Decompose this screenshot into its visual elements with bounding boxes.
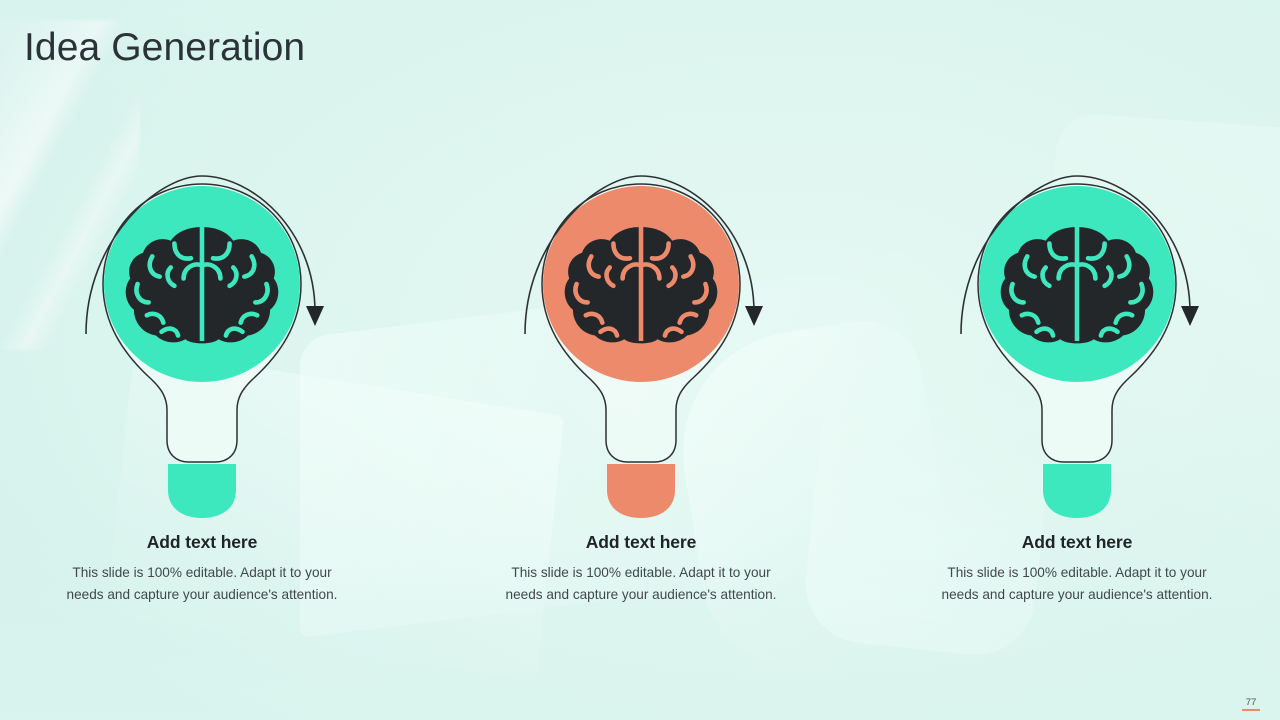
idea-columns: Add text here This slide is 100% editabl… — [0, 0, 1280, 720]
idea-column-2: Add text here This slide is 100% editabl… — [476, 0, 806, 720]
page-number-value: 77 — [1236, 698, 1266, 708]
idea-text-block-1: Add text here This slide is 100% editabl… — [52, 533, 352, 607]
lightbulb-graphic-3[interactable] — [937, 172, 1217, 502]
page-number: 77 — [1236, 698, 1266, 712]
page-number-rule — [1242, 709, 1260, 711]
lightbulb-svg — [937, 172, 1217, 502]
arrow-head-icon — [306, 306, 324, 326]
item-body: This slide is 100% editable. Adapt it to… — [52, 562, 352, 606]
idea-text-block-2: Add text here This slide is 100% editabl… — [491, 533, 791, 607]
arrow-head-icon — [745, 306, 763, 326]
item-heading: Add text here — [491, 533, 791, 552]
item-body: This slide is 100% editable. Adapt it to… — [927, 562, 1227, 606]
idea-column-1: Add text here This slide is 100% editabl… — [37, 0, 367, 720]
item-heading: Add text here — [927, 533, 1227, 552]
idea-column-3: Add text here This slide is 100% editabl… — [912, 0, 1242, 720]
arrow-head-icon — [1181, 306, 1199, 326]
idea-text-block-3: Add text here This slide is 100% editabl… — [927, 533, 1227, 607]
item-body: This slide is 100% editable. Adapt it to… — [491, 562, 791, 606]
lightbulb-graphic-2[interactable] — [501, 172, 781, 502]
bulb-screw-base — [168, 464, 236, 518]
lightbulb-svg — [501, 172, 781, 502]
lightbulb-svg — [62, 172, 342, 502]
slide-canvas: Idea Generation — [0, 0, 1280, 720]
bulb-screw-base — [1043, 464, 1111, 518]
item-heading: Add text here — [52, 533, 352, 552]
bulb-screw-base — [607, 464, 675, 518]
lightbulb-graphic-1[interactable] — [62, 172, 342, 502]
